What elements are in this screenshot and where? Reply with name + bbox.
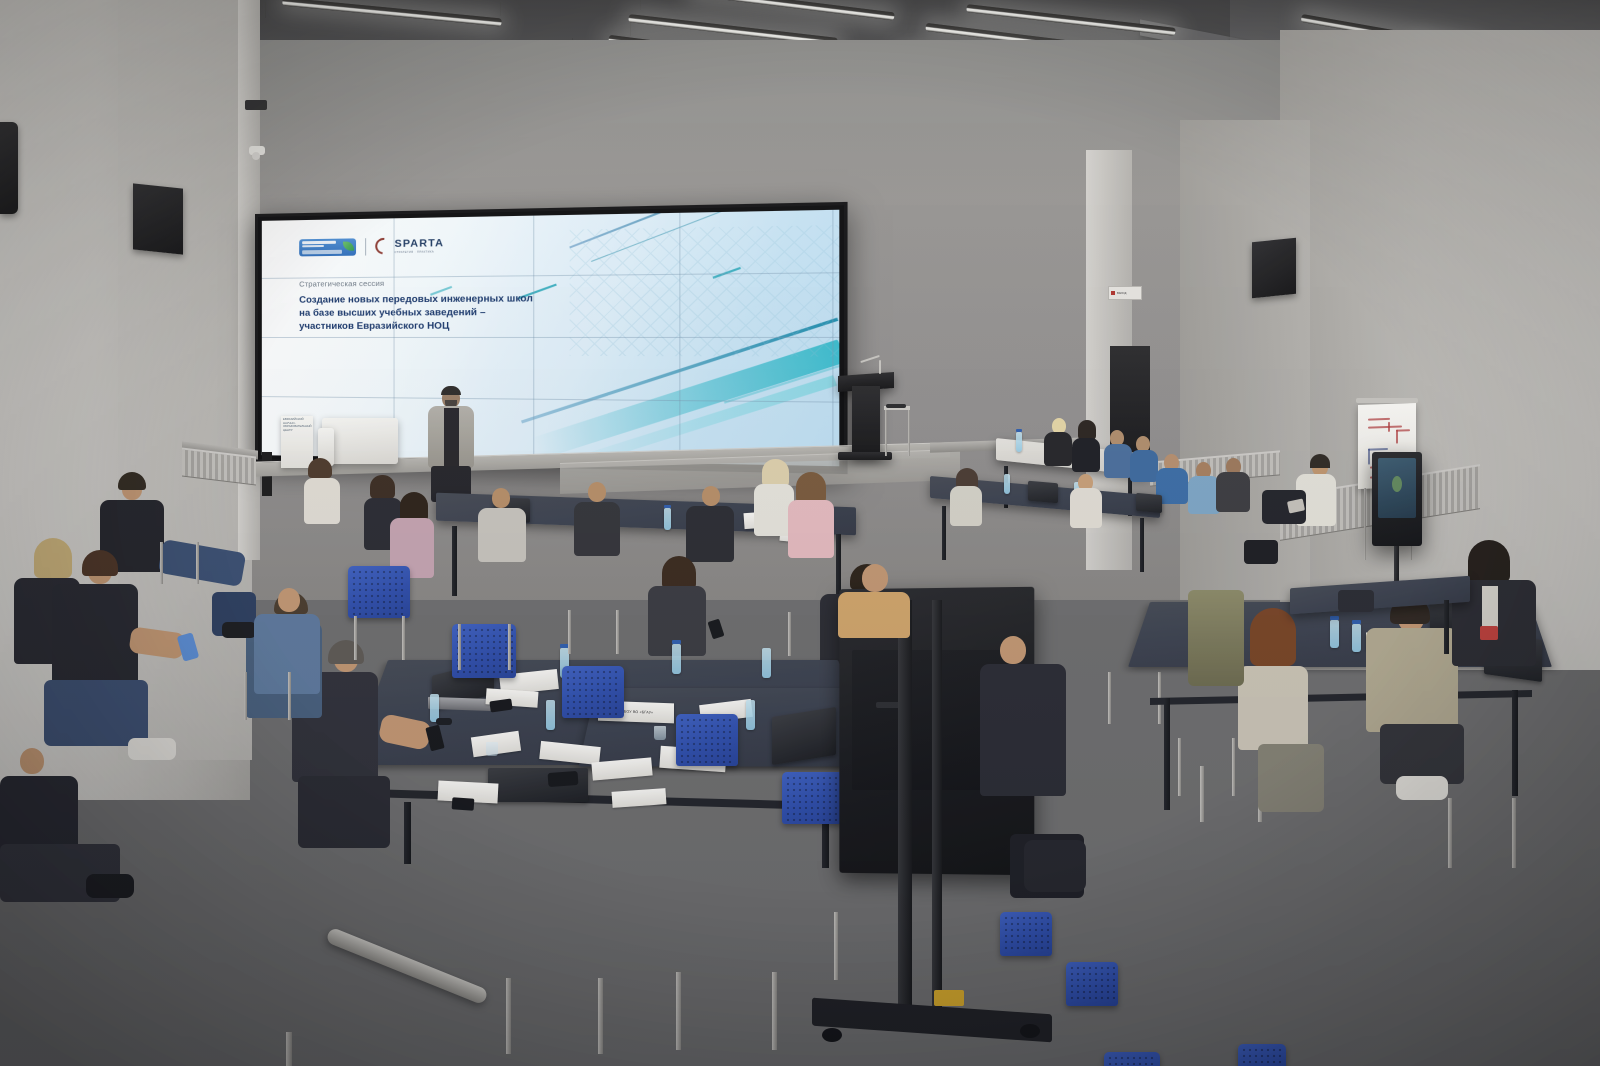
chair-leg xyxy=(616,610,619,654)
person-legs xyxy=(298,776,390,848)
podium-base xyxy=(838,452,892,460)
person-torso xyxy=(574,502,620,556)
lamp-wire xyxy=(500,2,501,16)
water-bottle xyxy=(1352,624,1361,652)
person-torso xyxy=(838,592,910,638)
shoe xyxy=(1396,776,1448,800)
water-bottle xyxy=(1004,474,1010,494)
bottle-cap xyxy=(1330,616,1339,620)
person-head xyxy=(278,588,300,612)
chair-leg xyxy=(1448,798,1452,868)
chair-leg xyxy=(788,612,791,656)
laptop[interactable] xyxy=(1028,481,1058,504)
person-legs xyxy=(44,680,148,746)
person-hair xyxy=(1468,540,1510,582)
person-hair xyxy=(308,458,332,478)
chair[interactable] xyxy=(1238,1044,1286,1066)
chair-leg xyxy=(772,972,777,1050)
draped-coat xyxy=(1188,590,1244,686)
chair[interactable] xyxy=(1066,962,1118,1006)
table-leg xyxy=(452,526,457,596)
chair-leg xyxy=(1200,766,1204,822)
chair-leg xyxy=(1232,738,1235,796)
badge xyxy=(1480,626,1498,640)
person-hair xyxy=(328,640,364,664)
person-head xyxy=(20,748,44,774)
person-torso xyxy=(686,506,734,562)
person-torso xyxy=(1044,432,1072,466)
person-torso xyxy=(254,614,320,694)
bottle-cap xyxy=(1352,620,1361,624)
wall-speaker xyxy=(1252,238,1296,299)
chair-leg xyxy=(1512,798,1516,868)
chair-leg xyxy=(244,672,247,720)
person-torso xyxy=(1216,472,1250,512)
laptop[interactable] xyxy=(772,707,836,765)
water-bottle xyxy=(746,700,755,730)
table-leg xyxy=(942,506,946,560)
person-hair xyxy=(1310,454,1330,468)
water-bottle xyxy=(664,508,671,530)
conference-room-photo: ВЫХОД xyxy=(0,0,1600,1066)
person-torso xyxy=(1104,444,1132,478)
person-hair xyxy=(662,556,696,590)
handrail xyxy=(325,927,489,1006)
flipchart-clamp xyxy=(1356,398,1418,403)
microphone-stem xyxy=(879,360,881,374)
lamp-wire xyxy=(265,2,266,18)
chair-leg xyxy=(288,672,291,720)
person-torso xyxy=(1070,488,1102,528)
person-hair xyxy=(1250,608,1296,666)
chair-leg xyxy=(1108,672,1111,724)
bottle-cap xyxy=(664,505,671,508)
chair[interactable] xyxy=(676,714,738,766)
person-hair xyxy=(34,538,72,578)
cart-safety-marker xyxy=(934,990,964,1006)
camera-dome-icon xyxy=(252,152,260,160)
flipchart-leg xyxy=(1364,488,1366,560)
bottle-cap xyxy=(672,640,681,644)
lamp-wire xyxy=(640,0,641,10)
shoe xyxy=(222,622,256,638)
monitor-pole xyxy=(898,600,912,1030)
water-bottle xyxy=(546,700,555,730)
chair-leg xyxy=(1178,738,1181,796)
stool-leg xyxy=(885,410,887,456)
stool-object xyxy=(886,404,906,408)
person-torso xyxy=(1130,450,1158,482)
chair-leg xyxy=(834,912,838,980)
side-display-graphic xyxy=(1392,476,1402,492)
caster-wheel xyxy=(822,1028,842,1042)
chair-leg xyxy=(506,978,511,1054)
chair[interactable] xyxy=(1000,912,1052,956)
chair-leg xyxy=(354,616,357,660)
shoe xyxy=(128,738,176,760)
person-torso xyxy=(980,664,1066,796)
water-bottle xyxy=(1330,620,1339,648)
chair[interactable] xyxy=(782,772,844,824)
chair[interactable] xyxy=(452,624,516,678)
laptop[interactable] xyxy=(1136,493,1162,513)
person-torso xyxy=(52,584,138,688)
monitor-pole xyxy=(932,600,942,1020)
person-head xyxy=(1000,636,1026,664)
table-leg xyxy=(1512,690,1518,796)
water-bottle xyxy=(762,648,771,678)
person-hair xyxy=(762,459,789,487)
security-camera-icon xyxy=(245,100,267,110)
exit-sign: ВЫХОД xyxy=(1108,286,1142,300)
presenter-shirt xyxy=(444,408,459,470)
stool-leg xyxy=(908,410,910,456)
smartphone[interactable] xyxy=(452,797,475,811)
chair-leg xyxy=(458,624,461,670)
bottle-cap xyxy=(1016,429,1022,432)
person-head xyxy=(492,488,510,508)
chair-leg xyxy=(402,616,405,660)
chair-leg xyxy=(568,610,571,654)
table-leg xyxy=(1444,600,1449,654)
presenter-hair xyxy=(441,386,461,395)
bag xyxy=(1024,840,1086,892)
drinking-glass xyxy=(654,726,666,740)
exit-red-icon xyxy=(1111,291,1115,295)
person-legs xyxy=(1244,540,1278,564)
mouse[interactable] xyxy=(436,718,452,725)
person-head xyxy=(702,486,720,506)
person-torso xyxy=(304,478,340,524)
glasses-case xyxy=(548,771,579,787)
right-wall xyxy=(1280,30,1600,670)
person-torso xyxy=(478,508,526,562)
chair-leg xyxy=(160,542,163,584)
person-torso xyxy=(788,500,834,558)
chair[interactable] xyxy=(562,666,624,718)
person-torso xyxy=(950,486,982,526)
person-head xyxy=(862,564,888,592)
person-hair xyxy=(1078,420,1096,440)
chair[interactable] xyxy=(348,566,410,618)
chair[interactable] xyxy=(1104,1052,1160,1066)
chair-leg xyxy=(196,542,199,584)
branding-panel: ЕВРАЗИЙСКИЙ НАУЧНО- ОБРАЗОВАТЕЛЬНЫЙ ЦЕНТ… xyxy=(281,416,313,468)
table-leg xyxy=(1140,518,1144,572)
chair-leg xyxy=(508,624,511,670)
water-bottle xyxy=(672,644,681,674)
exit-sign-label: ВЫХОД xyxy=(1117,292,1126,295)
wall-speaker xyxy=(0,122,18,214)
caster-wheel xyxy=(1020,1024,1040,1038)
smartphone[interactable] xyxy=(708,619,725,640)
chair-leg xyxy=(286,1032,292,1066)
person-legs xyxy=(1380,724,1464,784)
chair-leg xyxy=(676,972,681,1050)
person-legs xyxy=(1258,744,1324,812)
person-torso xyxy=(1238,666,1308,750)
paper-sheet xyxy=(591,757,652,780)
person-head xyxy=(588,482,606,502)
wall-speaker xyxy=(133,183,183,254)
person-torso xyxy=(1072,438,1100,472)
chair-leg xyxy=(598,978,603,1054)
shoe xyxy=(86,874,134,898)
drinking-glass xyxy=(486,742,498,756)
bag xyxy=(1338,590,1374,612)
person-hair xyxy=(370,475,395,499)
water-bottle xyxy=(1016,432,1022,452)
podium-body xyxy=(852,386,880,458)
table-leg xyxy=(1164,698,1170,810)
table-edge xyxy=(1150,690,1532,705)
table-leg xyxy=(404,802,411,864)
branding-panel-text: ЕВРАЗИЙСКИЙ НАУЧНО- ОБРАЗОВАТЕЛЬНЫЙ ЦЕНТ… xyxy=(281,416,313,435)
